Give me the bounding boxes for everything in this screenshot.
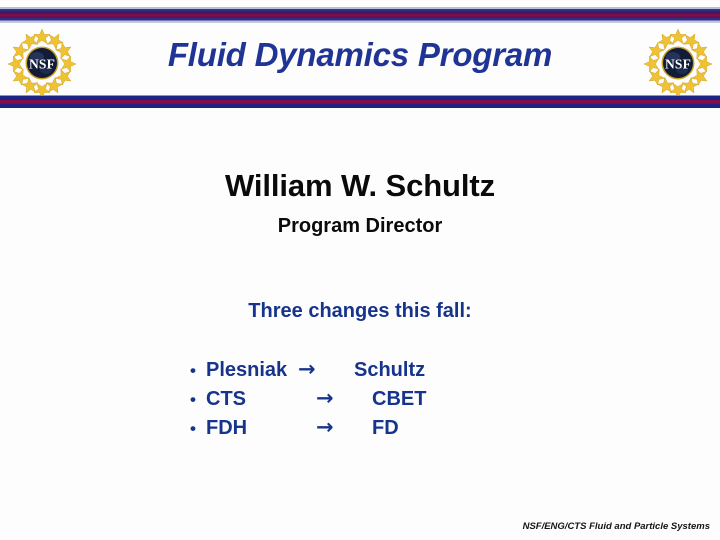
bullet-icon: • bbox=[190, 391, 206, 408]
change-to: Schultz bbox=[354, 359, 425, 382]
arrow-right-icon: → bbox=[316, 415, 372, 439]
change-from: CTS bbox=[206, 388, 316, 411]
change-to: FD bbox=[372, 417, 399, 440]
changes-list: • Plesniak → Schultz • CTS → CBET • FDH … bbox=[190, 357, 590, 444]
svg-text:NSF: NSF bbox=[665, 57, 691, 72]
changes-heading: Three changes this fall: bbox=[0, 300, 720, 323]
nsf-seal-right: NSF bbox=[642, 27, 714, 99]
header-top-rule bbox=[0, 7, 720, 23]
list-item: • Plesniak → Schultz bbox=[190, 357, 590, 386]
arrow-right-icon: → bbox=[298, 357, 354, 381]
list-item: • FDH → FD bbox=[190, 415, 590, 444]
page-title: Fluid Dynamics Program bbox=[120, 36, 600, 74]
header-bottom-rule bbox=[0, 95, 720, 108]
footer-note: NSF/ENG/CTS Fluid and Particle Systems bbox=[523, 521, 710, 532]
nsf-seal-left: NSF bbox=[6, 27, 78, 99]
bullet-icon: • bbox=[190, 420, 206, 437]
person-name: William W. Schultz bbox=[0, 168, 720, 204]
change-from: Plesniak bbox=[206, 359, 298, 382]
arrow-right-icon: → bbox=[316, 386, 372, 410]
slide-header-banner: NSF Fluid Dynamics Program bbox=[0, 0, 720, 110]
person-role: Program Director bbox=[0, 215, 720, 238]
change-from: FDH bbox=[206, 417, 316, 440]
presentation-slide: NSF Fluid Dynamics Program bbox=[0, 0, 720, 540]
nsf-seal-globe: NSF bbox=[662, 47, 695, 80]
bullet-icon: • bbox=[190, 362, 206, 379]
svg-text:NSF: NSF bbox=[29, 57, 55, 72]
change-to: CBET bbox=[372, 388, 426, 411]
list-item: • CTS → CBET bbox=[190, 386, 590, 415]
nsf-seal-globe: NSF bbox=[26, 47, 59, 80]
